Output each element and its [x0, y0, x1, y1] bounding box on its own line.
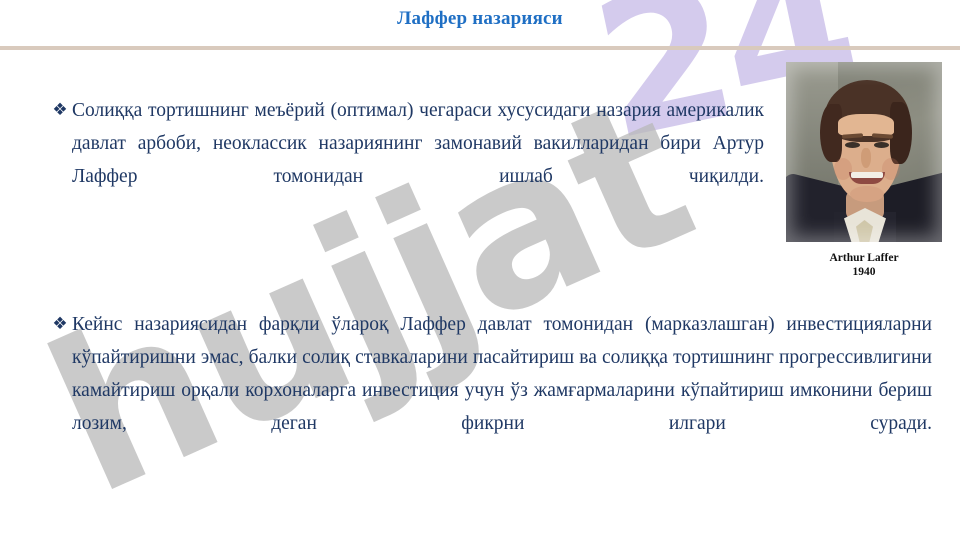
portrait-figure: Arthur Laffer 1940	[786, 62, 942, 279]
portrait-caption-name: Arthur Laffer	[786, 251, 942, 265]
portrait-caption: Arthur Laffer 1940	[786, 251, 942, 279]
title-band: Лаффер назарияси	[0, 0, 960, 48]
portrait-caption-year: 1940	[786, 265, 942, 279]
bullet-diamond-icon: ❖	[48, 94, 72, 127]
bullet-diamond-icon: ❖	[48, 308, 72, 341]
bullet-text-1: Солиққа тортишнинг меъёрий (оптимал) чег…	[72, 94, 764, 226]
slide-canvas: 24 hujjat Лаффер назарияси ❖ Солиққа тор…	[0, 0, 960, 540]
bullet-item-1: ❖ Солиққа тортишнинг меъёрий (оптимал) ч…	[48, 94, 764, 226]
title-divider	[0, 46, 960, 50]
bullet-text-2: Кейнс назариясидан фарқли ўлароқ Лаффер …	[72, 308, 932, 473]
arthur-laffer-photo	[786, 62, 942, 242]
page-title: Лаффер назарияси	[0, 8, 960, 30]
bullet-item-2: ❖ Кейнс назариясидан фарқли ўлароқ Лаффе…	[48, 308, 932, 473]
